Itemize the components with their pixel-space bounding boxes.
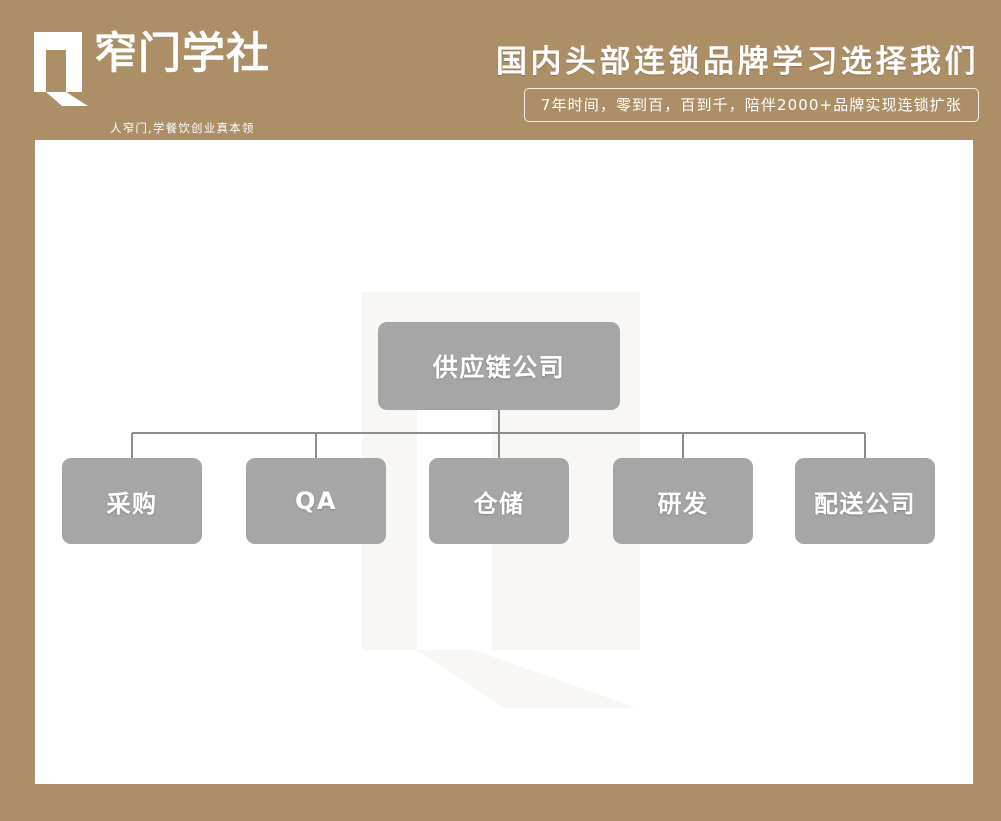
org-node-root[interactable]: 供应链公司 [378, 322, 620, 410]
content-panel: 供应链公司 采购 QA 仓储 研发 配送公司 [35, 140, 973, 784]
org-node-caigou[interactable]: 采购 [62, 458, 202, 544]
org-node-qa[interactable]: QA [246, 458, 386, 544]
org-chart: 供应链公司 采购 QA 仓储 研发 配送公司 [35, 140, 973, 784]
brand-tagline: 人窄门,学餐饮创业真本领 [110, 120, 255, 136]
header-headline: 国内头部连锁品牌学习选择我们 [496, 36, 979, 81]
org-node-peisong[interactable]: 配送公司 [795, 458, 935, 544]
org-node-caigou-label: 采购 [107, 484, 158, 519]
org-node-cangchu[interactable]: 仓储 [429, 458, 569, 544]
org-node-root-label: 供应链公司 [433, 348, 566, 384]
slide-root: 窄门学社 人窄门,学餐饮创业真本领 国内头部连锁品牌学习选择我们 7年时间，零到… [0, 0, 1001, 821]
org-node-qa-label: QA [295, 487, 337, 515]
org-node-yanfa[interactable]: 研发 [613, 458, 753, 544]
brand-name: 窄门学社 [94, 26, 262, 88]
org-node-peisong-label: 配送公司 [814, 484, 916, 519]
brand-logo: 窄门学社 人窄门,学餐饮创业真本领 [32, 26, 242, 116]
page-header: 窄门学社 人窄门,学餐饮创业真本领 国内头部连锁品牌学习选择我们 7年时间，零到… [0, 0, 1001, 140]
door-logo-icon [32, 30, 90, 106]
org-node-yanfa-label: 研发 [658, 484, 709, 519]
header-subheadline: 7年时间，零到百，百到千，陪伴2000+品牌实现连锁扩张 [524, 88, 979, 122]
org-node-cangchu-label: 仓储 [474, 484, 525, 519]
